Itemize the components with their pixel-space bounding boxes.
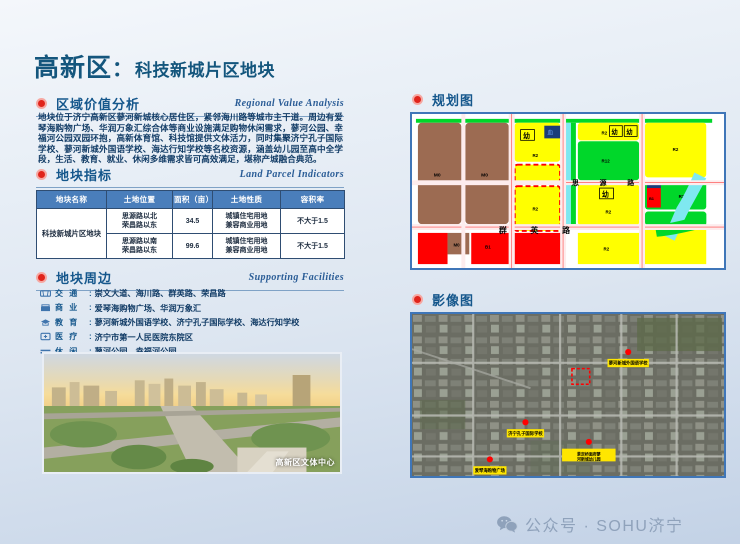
bullet-icon <box>36 272 47 283</box>
svg-text:幼: 幼 <box>611 127 617 136</box>
facilities-list: 交 通 : 崇文大道、海川路、群英路、荣昌路 商 业 : 爱琴海购物广场、华润万… <box>40 287 346 360</box>
city-aerial-photo: 高新区文体中心 <box>42 352 342 474</box>
page-title-sub: 科技新城片区地块 <box>135 56 275 81</box>
bullet-icon <box>412 94 423 105</box>
section-title-cn: 规划图 <box>432 90 474 109</box>
facility-colon: : <box>89 303 92 312</box>
svg-text:M0: M0 <box>481 172 488 178</box>
section-header-surroundings: 地块周边 Supporting Facilities <box>36 268 344 287</box>
page-root: 高新区 ： 科技新城片区地块 区域价值分析 Regional Value Ana… <box>0 0 740 544</box>
cell-area: 34.5 <box>173 209 213 234</box>
wechat-icon <box>496 515 518 533</box>
section-title-en: Land Parcel Indicators <box>240 169 344 180</box>
facility-value: 济宁市第一人民医院东院区 <box>95 331 193 343</box>
facility-colon: : <box>89 332 92 341</box>
page-title: 高新区 ： 科技新城片区地块 <box>34 48 275 84</box>
map-label-text: 爱琴海购物广场 <box>475 467 506 474</box>
section-title-cn: 地块周边 <box>56 268 112 287</box>
cell-location: 思源路以北荣昌路以东 <box>107 209 173 234</box>
cell-location: 思源路以南荣昌路以东 <box>107 234 173 259</box>
facility-value: 崇文大道、海川路、群英路、荣昌路 <box>95 287 226 299</box>
divider <box>36 187 344 188</box>
svg-text:R2: R2 <box>602 130 608 135</box>
map-label-text: 蓼河新城外国语学校 <box>609 360 649 367</box>
table-row: 科技新城片区地块 思源路以北荣昌路以东 34.5 城镇住宅用地兼容商业用地 不大… <box>37 209 345 234</box>
svg-text:R2: R2 <box>532 207 538 212</box>
svg-text:幼: 幼 <box>626 127 632 136</box>
bullet-icon <box>36 98 47 109</box>
map-marker-dot[interactable] <box>625 349 631 355</box>
section-title-cn: 区域价值分析 <box>56 94 140 113</box>
medical-icon <box>40 332 51 341</box>
facility-value: 爱琴海购物广场、华润万象汇 <box>95 302 201 314</box>
facility-item-traffic: 交 通 : 崇文大道、海川路、群英路、荣昌路 <box>40 287 346 299</box>
svg-text:幼: 幼 <box>523 131 530 140</box>
section-header-indicators: 地块指标 Land Parcel Indicators <box>36 165 344 184</box>
photo-caption: 高新区文体中心 <box>276 457 336 468</box>
svg-text:R2: R2 <box>606 209 612 214</box>
section-title-cn: 地块指标 <box>56 165 112 184</box>
satellite-map[interactable]: 蓼河新城外国语学校济宁孔子国际学校景定桥面府蓼河新城幼儿园爱琴海购物广场高新区管… <box>410 312 726 478</box>
facility-key: 商 业 <box>55 302 89 313</box>
svg-text:R2: R2 <box>604 246 610 251</box>
col-header-area: 面积（亩） <box>173 191 213 209</box>
map-label-text: 景定桥面府蓼河新城幼儿园 <box>576 451 601 461</box>
facility-item-medical: 医 疗 : 济宁市第一人民医院东院区 <box>40 331 346 343</box>
cell-parcel-name: 科技新城片区地块 <box>37 209 107 259</box>
land-parcel-table: 地块名称 土地位置 面积（亩） 土地性质 容积率 科技新城片区地块 思源路以北荣… <box>36 190 345 259</box>
map-marker-dot[interactable] <box>586 439 592 445</box>
svg-text:B1: B1 <box>649 196 655 201</box>
bullet-icon <box>412 294 423 305</box>
section-header-plan-map: 规划图 <box>412 90 612 109</box>
page-title-colon: ： <box>112 53 133 83</box>
svg-text:幼: 幼 <box>602 189 609 198</box>
svg-text:英: 英 <box>530 225 538 235</box>
svg-text:R2: R2 <box>532 153 538 158</box>
cell-far: 不大于1.5 <box>281 234 345 259</box>
facility-key: 交 通 <box>55 288 89 299</box>
svg-text:B1: B1 <box>485 245 491 250</box>
svg-text:路: 路 <box>562 225 570 235</box>
col-header-far: 容积率 <box>281 191 345 209</box>
watermark: 公众号 · SOHU济宁 <box>496 512 683 536</box>
cell-area: 99.6 <box>173 234 213 259</box>
svg-text:路: 路 <box>627 178 634 187</box>
facility-value: 蓼河新城外国语学校、济宁孔子国际学校、海达行知学校 <box>95 316 300 328</box>
svg-text:M0: M0 <box>453 243 460 248</box>
education-icon <box>40 318 51 327</box>
section-title-en: Regional Value Analysis <box>235 98 344 109</box>
col-header-nature: 土地性质 <box>213 191 281 209</box>
svg-text:M0: M0 <box>434 172 441 178</box>
facility-item-education: 教 育 : 蓼河新城外国语学校、济宁孔子国际学校、海达行知学校 <box>40 316 346 328</box>
facility-item-shopping: 商 业 : 爱琴海购物广场、华润万象汇 <box>40 302 346 314</box>
facility-colon: : <box>89 289 92 298</box>
value-analysis-paragraph: 地块位于济宁高新区蓼河新城核心居住区，紧邻海川路等城市主干道。周边有爱琴海购物广… <box>38 112 343 165</box>
watermark-text: 公众号 · SOHU济宁 <box>525 512 683 536</box>
planning-map[interactable]: M0 M0 R2 幼 血 R2 R2 R12 幼 幼 <box>410 112 726 270</box>
svg-text:源: 源 <box>600 178 607 187</box>
page-title-main: 高新区 <box>34 48 112 84</box>
traffic-icon <box>40 289 51 298</box>
cell-far: 不大于1.5 <box>281 209 345 234</box>
col-header-name: 地块名称 <box>37 191 107 209</box>
map-label-text: 济宁孔子国际学校 <box>508 430 543 437</box>
facility-key: 医 疗 <box>55 331 89 342</box>
cell-nature: 城镇住宅用地兼容商业用地 <box>213 234 281 259</box>
map-marker-dot[interactable] <box>522 419 528 425</box>
section-header-satellite-map: 影像图 <box>412 290 612 309</box>
table-header-row: 地块名称 土地位置 面积（亩） 土地性质 容积率 <box>37 191 345 209</box>
cell-nature: 城镇住宅用地兼容商业用地 <box>213 209 281 234</box>
svg-text:R2: R2 <box>673 147 679 152</box>
col-header-location: 土地位置 <box>107 191 173 209</box>
section-title-en: Supporting Facilities <box>249 272 344 283</box>
section-title-cn: 影像图 <box>432 290 474 309</box>
svg-text:思: 思 <box>572 178 579 187</box>
facility-colon: : <box>89 318 92 327</box>
section-header-value-analysis: 区域价值分析 Regional Value Analysis <box>36 94 344 113</box>
svg-text:血: 血 <box>547 129 553 137</box>
svg-text:群: 群 <box>498 225 507 235</box>
svg-text:R12: R12 <box>602 159 611 164</box>
facility-key: 教 育 <box>55 317 89 328</box>
shopping-icon <box>40 303 51 312</box>
bullet-icon <box>36 169 47 180</box>
map-marker-dot[interactable] <box>487 456 493 462</box>
